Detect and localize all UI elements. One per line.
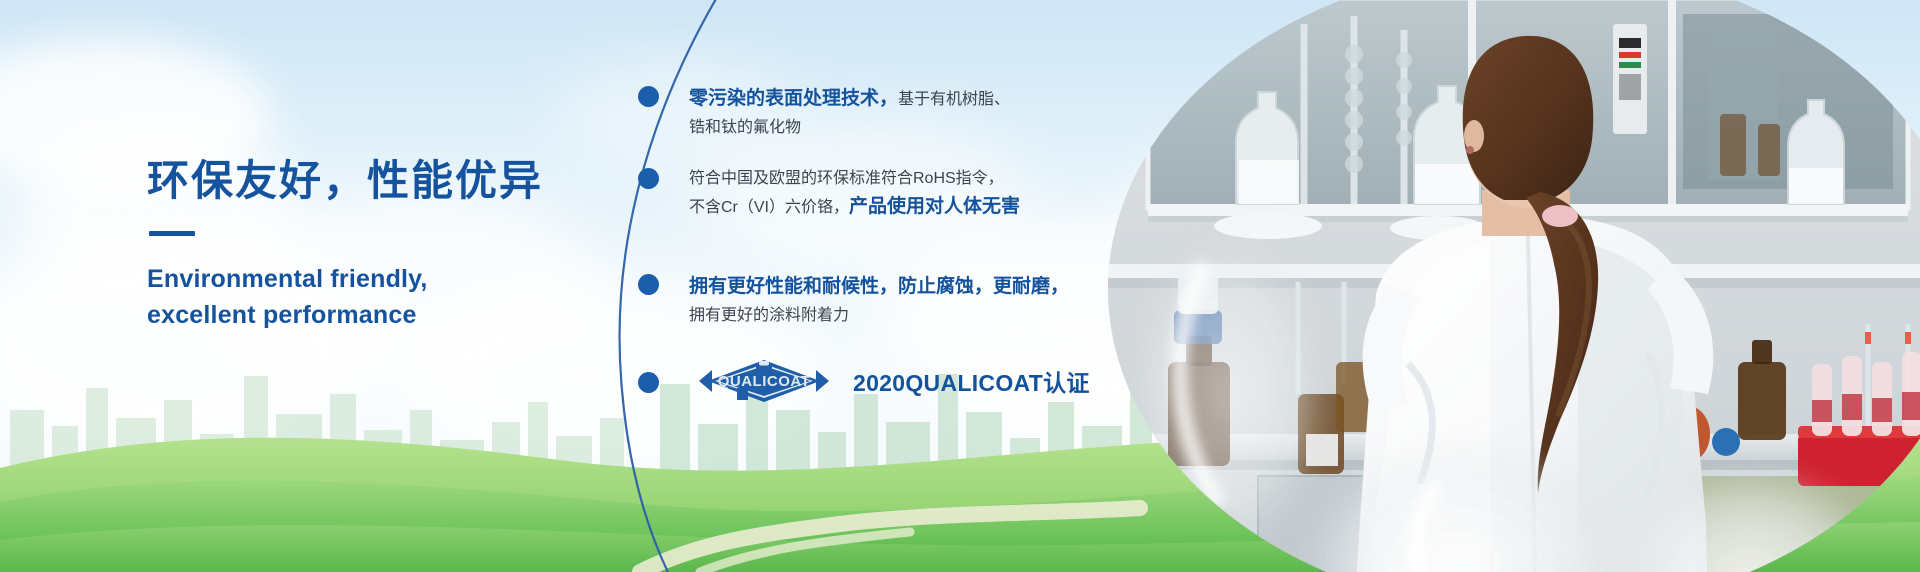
bullet-strong-text: 拥有更好性能和耐候性，防止腐蚀，更耐磨， [689, 276, 1069, 297]
lab-photo-circle [1108, 0, 1920, 572]
qualicoat-certification-label: 2020QUALICOAT认证 [853, 364, 1090, 398]
qualicoat-logo-icon: QUALICOAT [689, 357, 839, 405]
qualicoat-diamond-icon: QUALICOAT [689, 357, 839, 405]
bullet-dot-icon [638, 372, 659, 393]
bullet-normal-text: 符合中国及欧盟的环保标准符合RoHS指令， [689, 170, 1004, 187]
bullet-normal-text: 不含Cr（VI）六价铬， [689, 199, 849, 216]
bullet-item-qualicoat-certification: QUALICOAT 2020QUALICOAT认证 [638, 357, 1090, 405]
bullet-line: 拥有更好的涂料附着力 [689, 303, 1069, 329]
bullet-normal-text: 基于有机树脂、 [898, 91, 1010, 108]
bullet-item-rohs-compliance: 符合中国及欧盟的环保标准符合RoHS指令， 不含Cr（VI）六价铬，产品使用对人… [638, 166, 1020, 223]
bullet-line: 拥有更好性能和耐候性，防止腐蚀，更耐磨， [689, 272, 1069, 303]
bullet-text: 符合中国及欧盟的环保标准符合RoHS指令， 不含Cr（VI）六价铬，产品使用对人… [689, 166, 1020, 223]
headline-title-en-line2: excellent performance [147, 298, 667, 334]
bullet-dot-icon [638, 86, 659, 107]
qualicoat-logo-text: QUALICOAT [718, 373, 811, 390]
headline-block: 环保友好，性能优异 Environmental friendly, excell… [147, 157, 667, 333]
headline-divider-rule [149, 231, 195, 236]
bullet-item-better-performance: 拥有更好性能和耐候性，防止腐蚀，更耐磨， 拥有更好的涂料附着力 [638, 272, 1069, 329]
bullet-text: 拥有更好性能和耐候性，防止腐蚀，更耐磨， 拥有更好的涂料附着力 [689, 272, 1069, 329]
product-feature-banner: 环保友好，性能优异 Environmental friendly, excell… [0, 0, 1920, 572]
bullet-strong-text: 产品使用对人体无害 [849, 196, 1020, 217]
laboratory-scientist-photo [1108, 0, 1920, 572]
bullet-dot-icon [638, 168, 659, 189]
bullet-normal-text: 锆和钛的氟化物 [689, 119, 801, 136]
bullet-line: 不含Cr（VI）六价铬，产品使用对人体无害 [689, 192, 1020, 223]
bullet-text: 零污染的表面处理技术，基于有机树脂、 锆和钛的氟化物 [689, 84, 1010, 141]
bullet-line: 符合中国及欧盟的环保标准符合RoHS指令， [689, 166, 1020, 192]
bullet-strong-text: 零污染的表面处理技术， [689, 88, 898, 109]
bullet-dot-icon [638, 274, 659, 295]
feature-bullet-list: 零污染的表面处理技术，基于有机树脂、 锆和钛的氟化物 符合中国及欧盟的环保标准符… [638, 0, 1158, 572]
bullet-item-zero-pollution: 零污染的表面处理技术，基于有机树脂、 锆和钛的氟化物 [638, 84, 1010, 141]
headline-title-cn: 环保友好，性能优异 [147, 157, 667, 205]
headline-title-en-line1: Environmental friendly, [147, 262, 667, 298]
bullet-normal-text: 拥有更好的涂料附着力 [689, 307, 849, 324]
bullet-line: 锆和钛的氟化物 [689, 115, 1010, 141]
bullet-line: 零污染的表面处理技术，基于有机树脂、 [689, 84, 1010, 115]
